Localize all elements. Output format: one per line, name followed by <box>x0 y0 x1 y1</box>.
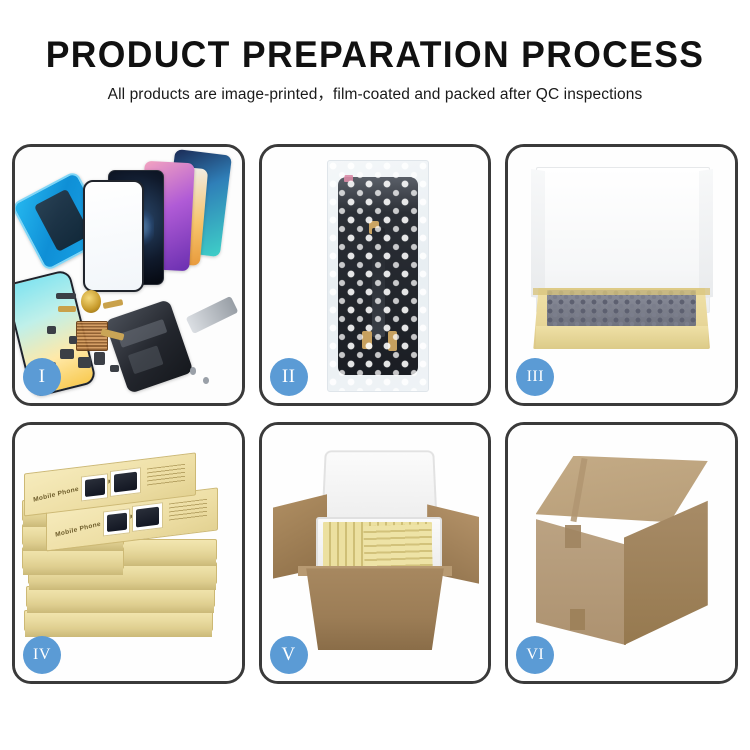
box-lid-flap-right <box>699 169 713 299</box>
box-tray-edge <box>533 288 710 296</box>
small-part <box>94 352 104 365</box>
box-phone-image <box>103 508 130 536</box>
box-spec-lines <box>147 464 184 487</box>
bubble-wrap-bag <box>327 160 429 392</box>
process-step-grid: I II <box>12 144 738 684</box>
process-step-3[interactable]: III <box>505 144 738 406</box>
step-badge-1: I <box>23 358 61 396</box>
small-part <box>78 357 90 369</box>
step-badge-5: V <box>270 636 308 674</box>
coil-part <box>81 290 101 313</box>
box-lid-flap-left <box>531 169 545 299</box>
bubble-texture <box>328 161 428 391</box>
process-step-5[interactable]: V <box>259 422 492 684</box>
box-phone-image <box>131 502 162 531</box>
chip-grid-part <box>76 321 107 351</box>
box-stack: Mobile Phone Spare Parts Mobile Phone Sp… <box>20 451 238 666</box>
process-step-4[interactable]: Mobile Phone Spare Parts Mobile Phone Sp… <box>12 422 245 684</box>
carton-tape-patch <box>570 609 586 629</box>
process-step-2[interactable]: II <box>259 144 492 406</box>
box-phone-image <box>110 468 141 497</box>
small-part <box>56 293 76 299</box>
screw-part <box>203 377 209 384</box>
carton-body <box>300 568 450 650</box>
phone-glass-panel <box>83 180 144 292</box>
flex-cable-part <box>58 306 76 312</box>
header: PRODUCT PREPARATION PROCESS All products… <box>0 0 750 104</box>
box-phone-image <box>81 474 108 502</box>
screw-part <box>190 367 197 375</box>
small-part <box>69 336 77 344</box>
small-part <box>110 365 119 373</box>
packed-boxes <box>363 524 432 570</box>
page-subtitle: All products are image-printed，film-coat… <box>0 85 750 104</box>
process-step-1[interactable]: I <box>12 144 245 406</box>
carton-tape-patch <box>565 525 581 548</box>
process-step-6[interactable]: VI <box>505 422 738 684</box>
phone-chassis <box>104 299 193 394</box>
infographic-page: PRODUCT PREPARATION PROCESS All products… <box>0 0 750 750</box>
small-part <box>60 349 74 359</box>
box-tray-front <box>536 326 708 349</box>
foam-insert <box>547 290 697 326</box>
box-spec-lines <box>169 499 206 522</box>
tweezers-tool <box>186 296 239 334</box>
page-title: PRODUCT PREPARATION PROCESS <box>15 34 735 76</box>
flex-cable-part <box>103 299 124 309</box>
small-part <box>47 326 56 334</box>
step-badge-2: II <box>270 358 308 396</box>
step-badge-4: IV <box>23 636 61 674</box>
